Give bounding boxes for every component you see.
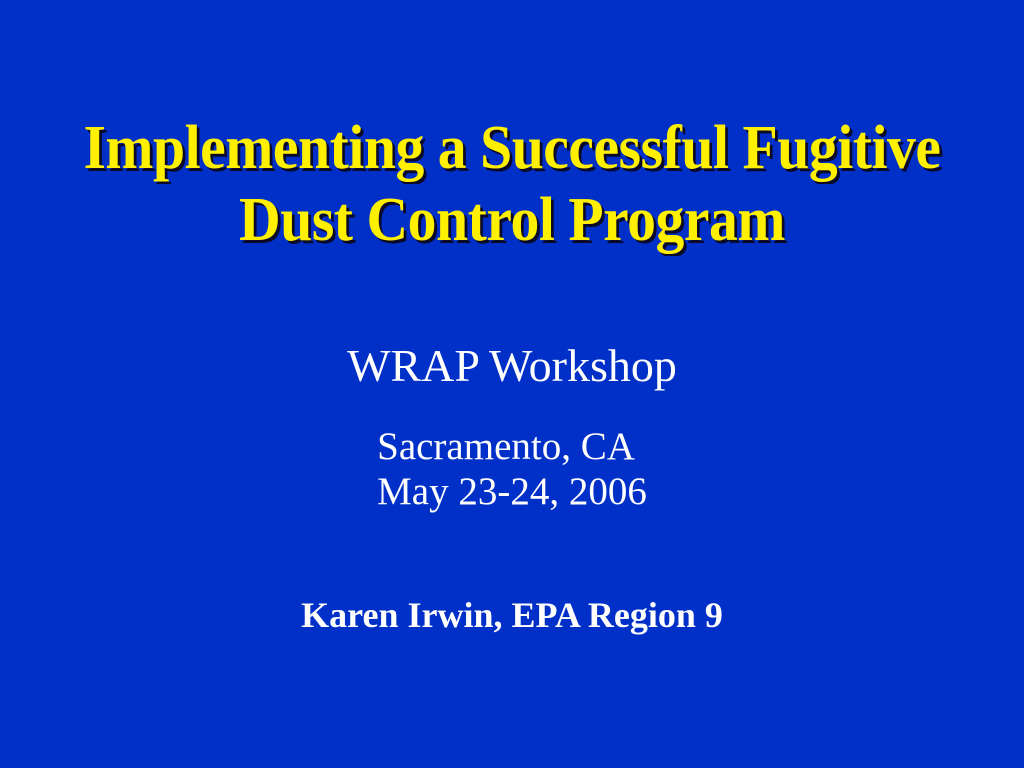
presenter-name-affiliation: Karen Irwin, EPA Region 9: [0, 594, 1024, 636]
location-lines: Sacramento, CA May 23-24, 2006: [377, 424, 647, 514]
location-city-state: Sacramento, CA: [377, 424, 647, 469]
slide-presenter-block: Karen Irwin, EPA Region 9: [0, 594, 1024, 636]
slide-subtitle: WRAP Workshop: [0, 340, 1024, 392]
slide-title: Implementing a Successful Fugitive Dust …: [0, 112, 1024, 256]
workshop-name: WRAP Workshop: [0, 340, 1024, 392]
title-line-1: Implementing a Successful Fugitive: [36, 112, 988, 184]
slide-location-block: Sacramento, CA May 23-24, 2006: [0, 424, 1024, 514]
title-line-2: Dust Control Program: [36, 184, 988, 256]
presentation-slide: Implementing a Successful Fugitive Dust …: [0, 0, 1024, 768]
location-dates: May 23-24, 2006: [377, 469, 647, 514]
